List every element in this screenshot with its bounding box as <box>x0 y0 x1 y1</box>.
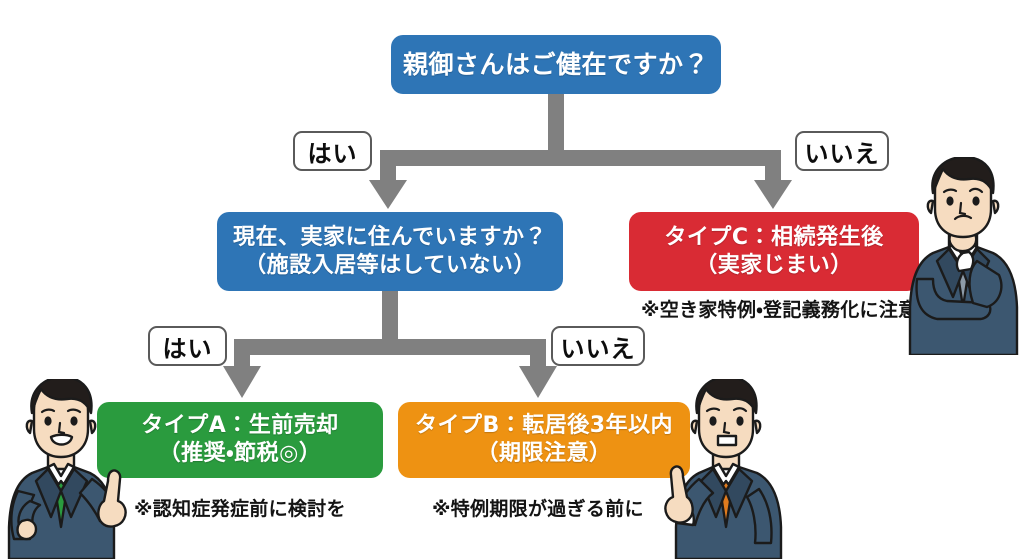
businessman-thinking-icon <box>903 157 1024 355</box>
businessman-pointing-orange-tie-icon <box>655 379 795 559</box>
edge-label-yes-root-text: はい <box>308 134 358 169</box>
connector-arrow-to-type-c <box>754 180 792 209</box>
edge-label-yes-root: はい <box>293 131 372 171</box>
node-type-b[interactable]: タイプB：転居後3年以内 （期限注意） <box>398 402 690 478</box>
flowchart-canvas: 親御さんはご健在ですか？ 現在、実家に住んでいますか？ （施設入居等はしていない… <box>0 0 1024 559</box>
connector-arrow-to-living <box>369 180 407 209</box>
connector-level1-left-stem <box>380 150 396 183</box>
connector-level1-bar <box>380 150 781 166</box>
node-type-c[interactable]: タイプC：相続発生後 （実家じまい） <box>629 212 919 291</box>
caption-type-b: ※特例期限が過ぎる前に <box>432 494 644 521</box>
connector-living-stem <box>382 291 398 345</box>
edge-label-no-living-text: いいえ <box>561 329 636 364</box>
connector-arrow-to-type-b <box>519 366 557 398</box>
caption-type-a: ※認知症発症前に検討を <box>134 494 346 521</box>
node-type-c-label: タイプC：相続発生後 （実家じまい） <box>629 224 919 279</box>
connector-level2-left-stem <box>234 339 250 368</box>
connector-level2-right-stem <box>530 339 546 368</box>
edge-label-no-root: いいえ <box>795 131 889 171</box>
connector-level2-bar <box>234 339 546 355</box>
edge-label-yes-living-text: はい <box>163 329 213 364</box>
connector-level1-right-stem <box>765 150 781 183</box>
node-living-question[interactable]: 現在、実家に住んでいますか？ （施設入居等はしていない） <box>217 212 563 291</box>
node-root-question[interactable]: 親御さんはご健在ですか？ <box>391 35 721 94</box>
connector-arrow-to-type-a <box>223 366 261 398</box>
edge-label-no-living: いいえ <box>551 326 645 366</box>
businessman-pointing-green-tie-icon <box>0 379 140 559</box>
node-root-question-label: 親御さんはご健在ですか？ <box>391 49 721 81</box>
edge-label-yes-living: はい <box>148 326 227 366</box>
caption-type-c: ※空き家特例・登記義務化に注意 <box>641 295 917 322</box>
node-type-b-label: タイプB：転居後3年以内 （期限注意） <box>398 412 690 467</box>
edge-label-no-root-text: いいえ <box>805 134 880 169</box>
connector-root-stem <box>548 94 564 156</box>
node-living-question-label: 現在、実家に住んでいますか？ （施設入居等はしていない） <box>217 224 563 279</box>
